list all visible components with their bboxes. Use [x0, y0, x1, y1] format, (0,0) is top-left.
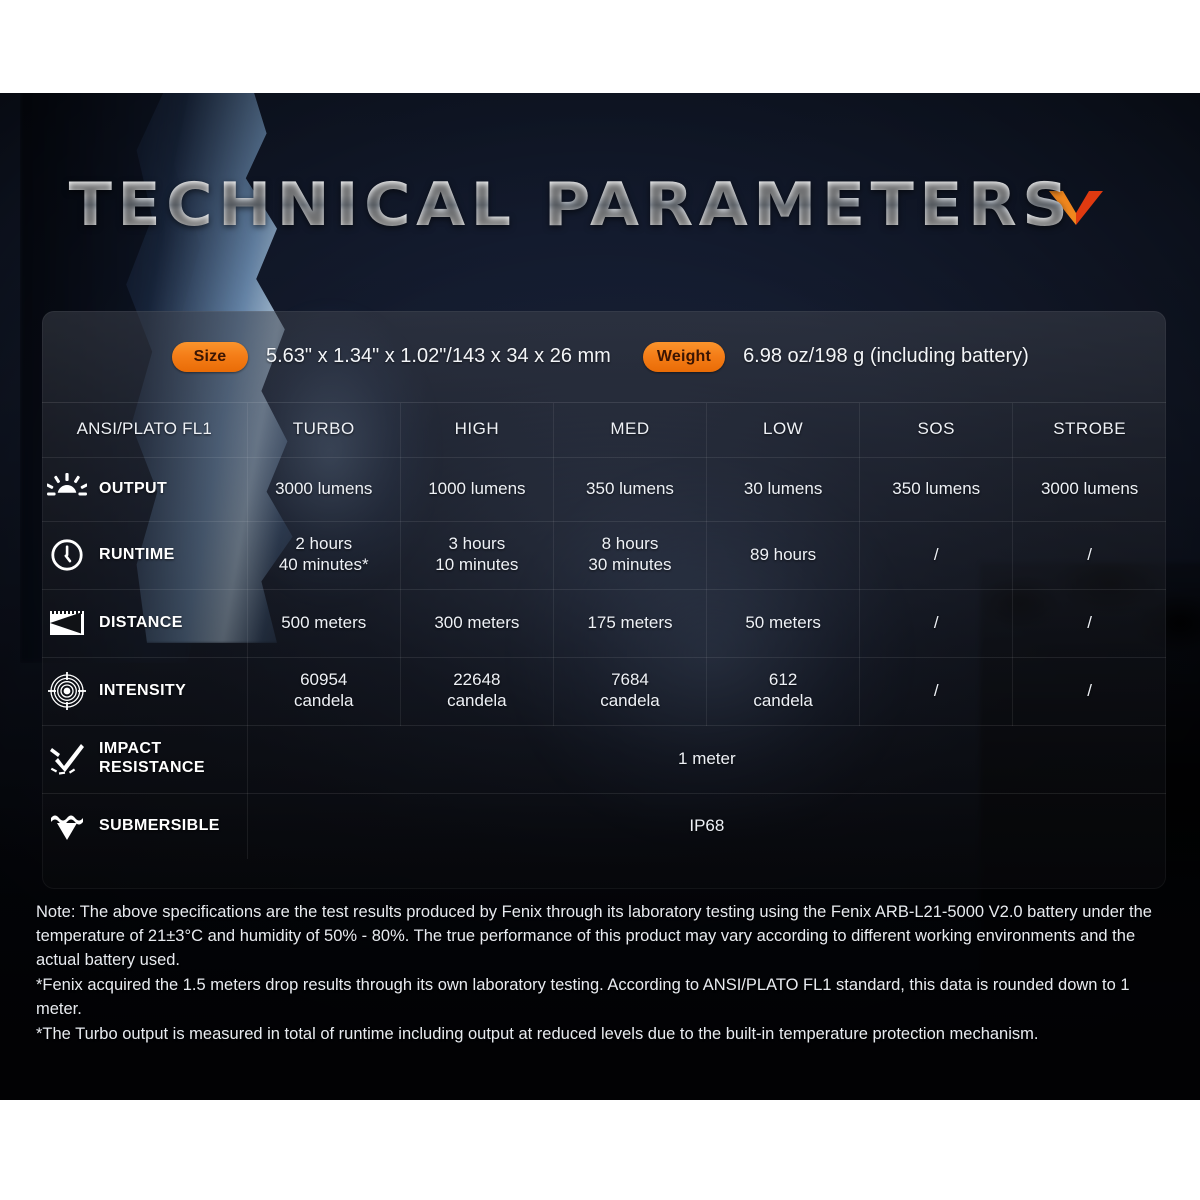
clock-icon [46, 536, 88, 574]
row-label-text: SUBMERSIBLE [99, 817, 220, 836]
cell-distance-med: 175 meters [553, 589, 706, 657]
cell-runtime-med: 8 hours30 minutes [553, 521, 706, 589]
cell-output-med: 350 lumens [553, 457, 706, 521]
cell-intensity-low: 612candela [707, 657, 860, 725]
cell-output-strobe: 3000 lumens [1013, 457, 1166, 521]
cell-distance-strobe: / [1013, 589, 1166, 657]
table-row-output: OUTPUT 3000 lumens 1000 lumens 350 lumen… [42, 457, 1166, 521]
cell-intensity-strobe: / [1013, 657, 1166, 725]
cell-intensity-high: 22648candela [400, 657, 553, 725]
sun-burst-icon [46, 470, 88, 508]
row-label-output: OUTPUT [42, 457, 247, 521]
cell-submersible-value: IP68 [247, 793, 1166, 859]
product-spec-banner: TECHNICAL PARAMETERS Size 5.63" x 1.34" … [0, 93, 1200, 1100]
impact-check-icon [46, 740, 88, 778]
column-header-strobe: STROBE [1013, 403, 1166, 457]
row-label-text: IMPACTRESISTANCE [99, 740, 205, 778]
cell-distance-turbo: 500 meters [247, 589, 400, 657]
column-header-turbo: TURBO [247, 403, 400, 457]
notes-block: Note: The above specifications are the t… [36, 901, 1168, 1047]
screenshot-root: TECHNICAL PARAMETERS Size 5.63" x 1.34" … [0, 0, 1200, 1200]
column-header-high: HIGH [400, 403, 553, 457]
cell-runtime-low: 89 hours [707, 521, 860, 589]
row-label-text: DISTANCE [99, 614, 183, 633]
size-value: 5.63" x 1.34" x 1.02"/143 x 34 x 26 mm [266, 345, 611, 368]
weight-group: Weight 6.98 oz/198 g (including battery) [643, 342, 1029, 372]
target-intensity-icon [46, 672, 88, 710]
cell-distance-low: 50 meters [707, 589, 860, 657]
table-row-submersible: SUBMERSIBLE IP68 [42, 793, 1166, 859]
row-label-intensity: INTENSITY [42, 657, 247, 725]
row-label-submersible: SUBMERSIBLE [42, 793, 247, 859]
specifications-table: ANSI/PLATO FL1 TURBO HIGH MED LOW SOS ST… [42, 403, 1166, 859]
table-row-intensity: INTENSITY 60954candela 22648candela 7684… [42, 657, 1166, 725]
row-label-impact-resistance: IMPACTRESISTANCE [42, 725, 247, 793]
cell-distance-high: 300 meters [400, 589, 553, 657]
cell-output-high: 1000 lumens [400, 457, 553, 521]
cell-distance-sos: / [860, 589, 1013, 657]
cell-runtime-turbo: 2 hours40 minutes* [247, 521, 400, 589]
table-body: OUTPUT 3000 lumens 1000 lumens 350 lumen… [42, 457, 1166, 859]
table-header: ANSI/PLATO FL1 TURBO HIGH MED LOW SOS ST… [42, 403, 1166, 457]
specifications-panel: Size 5.63" x 1.34" x 1.02"/143 x 34 x 26… [42, 311, 1166, 889]
row-label-text: OUTPUT [99, 480, 167, 499]
column-header-sos: SOS [860, 403, 1013, 457]
row-label-distance: DISTANCE [42, 589, 247, 657]
cell-output-turbo: 3000 lumens [247, 457, 400, 521]
table-row-impact-resistance: IMPACTRESISTANCE 1 meter [42, 725, 1166, 793]
row-label-text: INTENSITY [99, 682, 186, 701]
row-label-text: RUNTIME [99, 546, 175, 565]
cell-runtime-strobe: / [1013, 521, 1166, 589]
note-line-1: Note: The above specifications are the t… [36, 901, 1168, 973]
title-block: TECHNICAL PARAMETERS [0, 175, 1200, 235]
note-line-2: *Fenix acquired the 1.5 meters drop resu… [36, 974, 1168, 1022]
column-header-standard: ANSI/PLATO FL1 [42, 403, 247, 457]
cell-impact-resistance-value: 1 meter [247, 725, 1166, 793]
table-row-distance: DISTANCE 500 meters 300 meters 175 meter… [42, 589, 1166, 657]
cell-runtime-high: 3 hours10 minutes [400, 521, 553, 589]
weight-value: 6.98 oz/198 g (including battery) [743, 345, 1029, 368]
cell-output-sos: 350 lumens [860, 457, 1013, 521]
page-title: TECHNICAL PARAMETERS [68, 175, 1073, 235]
beam-distance-icon [46, 604, 88, 642]
cell-intensity-sos: / [860, 657, 1013, 725]
size-badge: Size [172, 342, 248, 372]
note-line-3: *The Turbo output is measured in total o… [36, 1023, 1168, 1047]
cell-output-low: 30 lumens [707, 457, 860, 521]
table-header-row: ANSI/PLATO FL1 TURBO HIGH MED LOW SOS ST… [42, 403, 1166, 457]
water-drop-icon [46, 807, 88, 845]
row-label-runtime: RUNTIME [42, 521, 247, 589]
table-row-runtime: RUNTIME 2 hours40 minutes* 3 hours10 min… [42, 521, 1166, 589]
column-header-low: LOW [707, 403, 860, 457]
size-weight-strip: Size 5.63" x 1.34" x 1.02"/143 x 34 x 26… [42, 311, 1166, 403]
cell-intensity-med: 7684candela [553, 657, 706, 725]
column-header-med: MED [553, 403, 706, 457]
cell-intensity-turbo: 60954candela [247, 657, 400, 725]
cell-runtime-sos: / [860, 521, 1013, 589]
weight-badge: Weight [643, 342, 725, 372]
